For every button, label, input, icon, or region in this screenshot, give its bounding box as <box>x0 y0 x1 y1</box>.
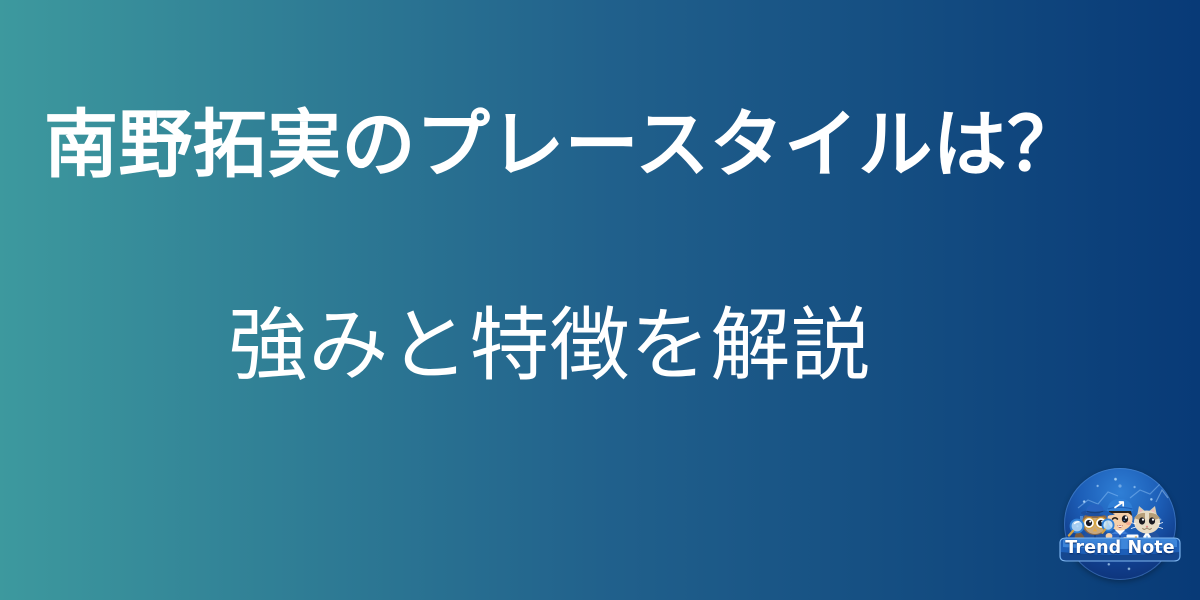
thumbnail-canvas: 南野拓実のプレースタイルは？ 強みと特徴を解説 <box>0 0 1200 600</box>
headline-line-1: 南野拓実のプレースタイルは？ <box>44 108 1081 182</box>
brand-logo[interactable]: Trend Note <box>1058 468 1182 580</box>
headline-line-2: 強みと特徴を解説 <box>228 306 871 386</box>
headline-block: 南野拓実のプレースタイルは？ 強みと特徴を解説 <box>0 0 1200 470</box>
logo-brand-name: Trend Note <box>1058 538 1182 558</box>
